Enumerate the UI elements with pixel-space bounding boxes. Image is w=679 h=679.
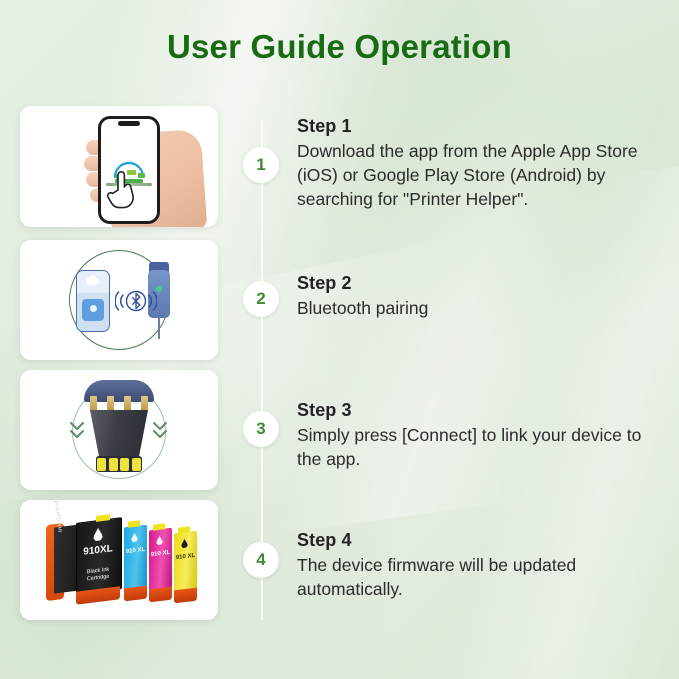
smartphone-body <box>76 270 110 332</box>
cartridge-magenta <box>149 528 172 591</box>
gold-pin <box>124 396 131 412</box>
gold-pin-row <box>90 396 148 412</box>
chip-connector-illustration <box>20 370 218 490</box>
step-body-2: Bluetooth pairing <box>297 297 669 321</box>
user-guide-page: User Guide Operation <box>0 0 679 679</box>
tap-hand-cursor-icon <box>106 168 140 210</box>
cartridge-foot <box>174 588 197 604</box>
step-image-card-3 <box>20 370 218 490</box>
step-text-block-4: Step 4 The device firmware will be updat… <box>297 530 669 602</box>
cartridge-foot <box>124 586 147 602</box>
step-body-4: The device firmware will be updated auto… <box>297 554 669 602</box>
cartridge-foot <box>149 587 172 603</box>
step-text-block-3: Step 3 Simply press [Connect] to link yo… <box>297 400 669 472</box>
step-image-card-4: Ink Cartridge 910XL 910XL Black Ink Cart… <box>20 500 218 620</box>
step-heading-4: Step 4 <box>297 530 669 551</box>
bluetooth-signal-icon <box>115 286 157 316</box>
step-body-1: Download the app from the Apple App Stor… <box>297 140 669 211</box>
gold-pin <box>90 396 97 412</box>
contact-pad <box>109 458 118 471</box>
step-number-badge-4: 4 <box>243 542 279 578</box>
phone-notch <box>118 121 140 126</box>
step-number-badge-3: 3 <box>243 411 279 447</box>
phone-screen-top <box>77 271 109 293</box>
ink-cartridges-illustration: Ink Cartridge 910XL 910XL Black Ink Cart… <box>20 500 218 620</box>
contact-pad <box>97 458 106 471</box>
step-text-block-1: Step 1 Download the app from the Apple A… <box>297 116 669 211</box>
chevron-down-icon-left <box>68 420 86 442</box>
contact-pad <box>120 458 129 471</box>
gold-pin <box>107 396 114 412</box>
step-image-card-2 <box>20 240 218 360</box>
app-tile-dot <box>90 305 97 312</box>
contact-pad-row <box>97 458 141 471</box>
step-body-3: Simply press [Connect] to link your devi… <box>297 424 669 472</box>
page-title: User Guide Operation <box>0 28 679 66</box>
dongle-cable <box>158 317 160 339</box>
step-text-block-2: Step 2 Bluetooth pairing <box>297 273 669 321</box>
connector-body <box>90 410 148 458</box>
cloud-icon <box>86 278 99 285</box>
contact-pad <box>132 458 141 471</box>
chevron-down-icon-right <box>151 420 169 442</box>
step-number-badge-2: 2 <box>243 281 279 317</box>
step-image-card-1 <box>20 106 218 227</box>
step-heading-3: Step 3 <box>297 400 669 421</box>
app-tile <box>82 299 104 321</box>
phone-in-hand-illustration <box>20 106 218 227</box>
cartridge-cyan <box>124 525 147 590</box>
bluetooth-pairing-illustration <box>20 240 218 360</box>
step-heading-1: Step 1 <box>297 116 669 137</box>
step-heading-2: Step 2 <box>297 273 669 294</box>
gold-pin <box>141 396 148 412</box>
step-number-badge-1: 1 <box>243 147 279 183</box>
